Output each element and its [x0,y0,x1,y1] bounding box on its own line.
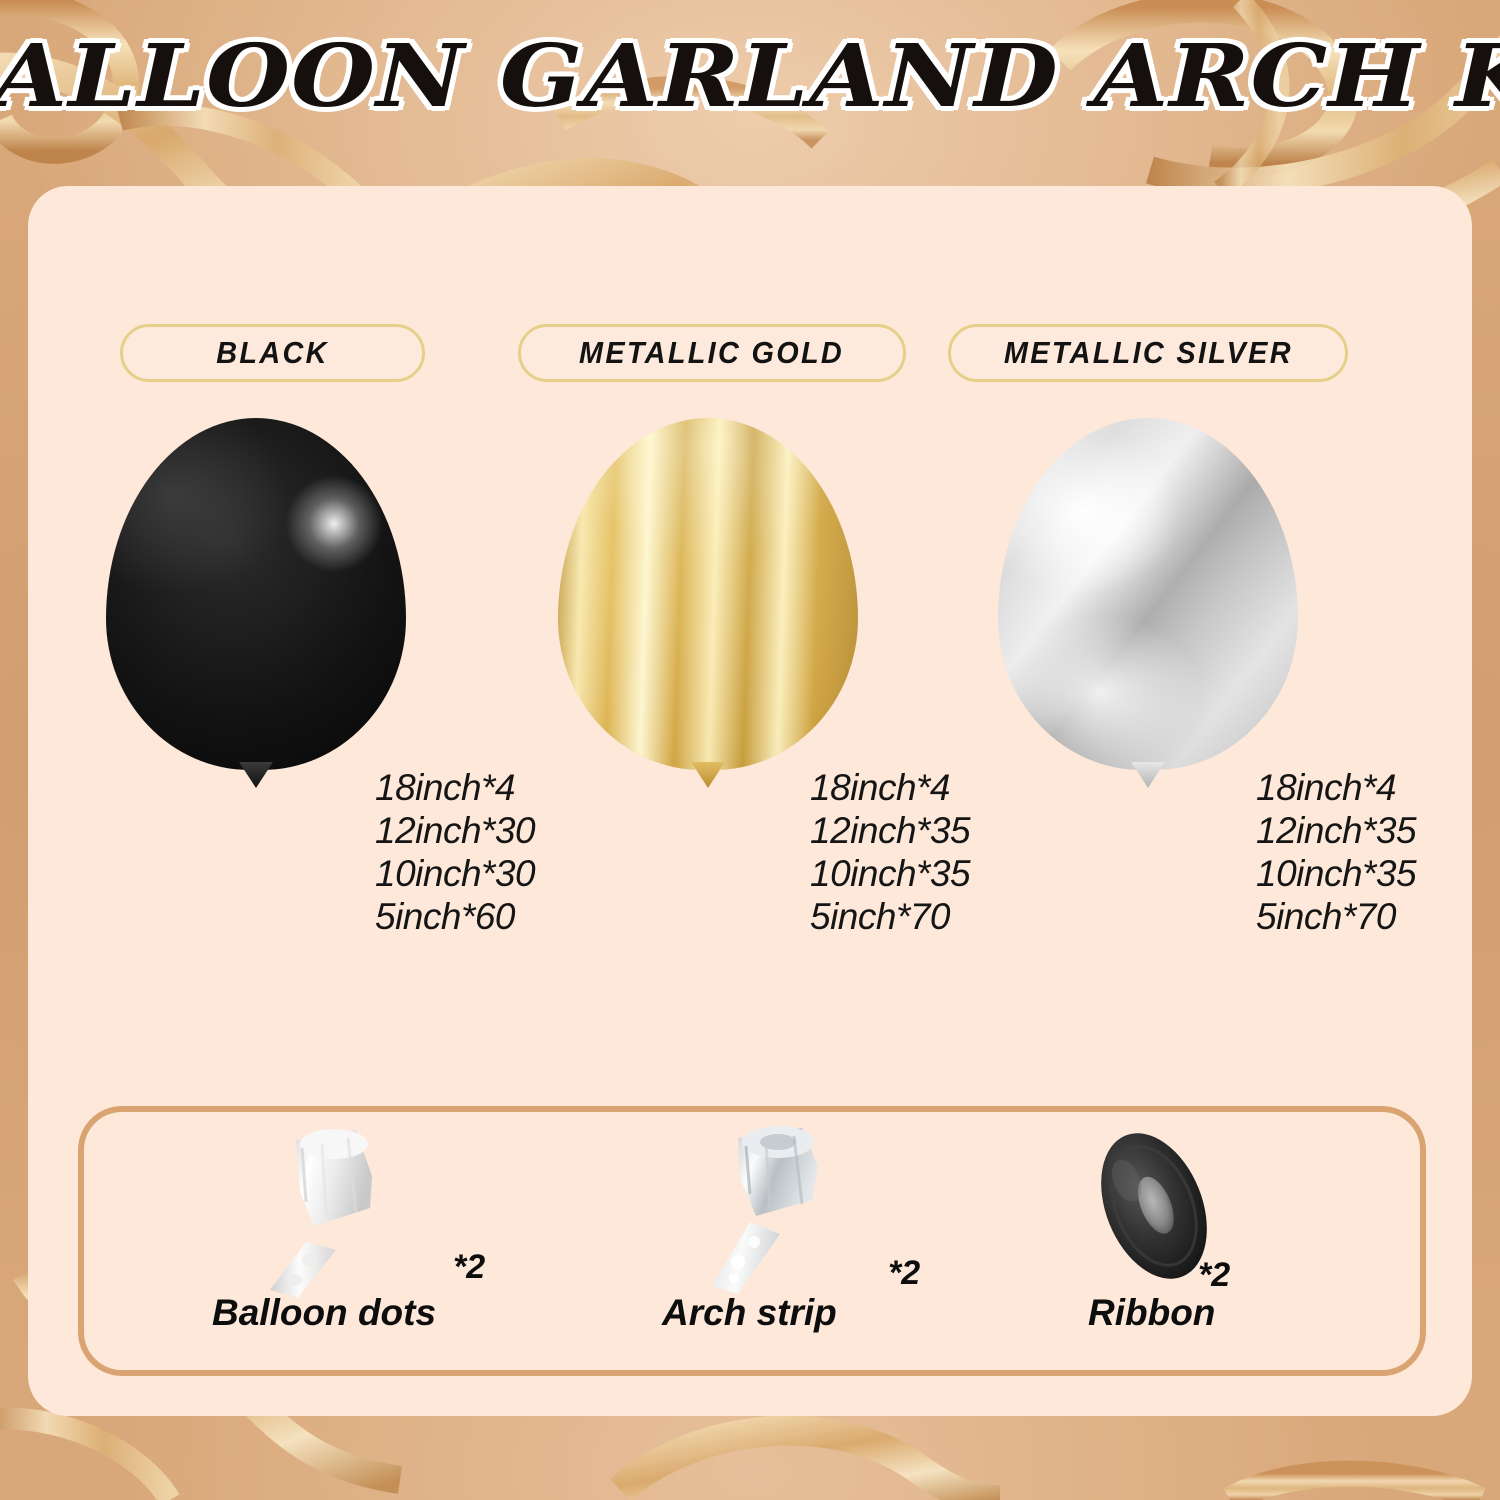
quantity-line: 12inch*35 [810,809,970,852]
accessory-name: Ribbon [1088,1292,1215,1334]
quantity-line: 18inch*4 [1256,766,1416,809]
tape-roll-white-icon [244,1122,424,1302]
gold-balloon [558,418,858,808]
gold-balloon-body [558,418,858,770]
quantity-line: 12inch*30 [375,809,535,852]
accessory-count: *2 [888,1254,920,1293]
color-label-gold: METALLIC GOLD [518,324,906,382]
accessory-name: Arch strip [662,1292,837,1334]
accessory-arch-strip: *2 Arch strip [620,1106,1040,1376]
black-balloon-knot [239,762,273,788]
quantity-list-black: 18inch*4 12inch*30 10inch*30 5inch*60 [375,766,535,938]
quantity-line: 18inch*4 [810,766,970,809]
quantity-line: 10inch*35 [810,852,970,895]
quantity-line: 10inch*35 [1256,852,1416,895]
page-title: BALLOON GARLAND ARCH KIT [0,26,1500,127]
color-label-silver: METALLIC SILVER [948,324,1348,382]
quantity-line: 5inch*70 [810,895,970,938]
quantity-line: 12inch*35 [1256,809,1416,852]
silver-balloon [998,418,1298,808]
accessory-balloon-dots: *2 Balloon dots [170,1106,590,1376]
silver-balloon-knot [1131,762,1165,788]
color-label-text: METALLIC SILVER [1003,335,1292,371]
accessory-ribbon: *2 Ribbon [1020,1106,1440,1376]
quantity-line: 5inch*70 [1256,895,1416,938]
product-infographic: BALLOON GARLAND ARCH KIT BLACK 18inch*4 … [0,0,1500,1500]
black-balloon-body [106,418,406,770]
accessory-count: *2 [1198,1256,1230,1295]
tape-roll-clear-icon [694,1122,874,1302]
quantity-list-silver: 18inch*4 12inch*35 10inch*35 5inch*70 [1256,766,1416,938]
quantity-line: 5inch*60 [375,895,535,938]
color-label-black: BLACK [120,324,425,382]
accessory-count: *2 [453,1248,485,1287]
gold-balloon-knot [691,762,725,788]
quantity-list-gold: 18inch*4 12inch*35 10inch*35 5inch*70 [810,766,970,938]
color-label-text: METALLIC GOLD [579,335,844,371]
silver-balloon-body [998,418,1298,770]
accessory-name: Balloon dots [212,1292,436,1334]
color-label-text: BLACK [216,335,329,371]
black-balloon [106,418,406,808]
quantity-line: 18inch*4 [375,766,535,809]
quantity-line: 10inch*30 [375,852,535,895]
